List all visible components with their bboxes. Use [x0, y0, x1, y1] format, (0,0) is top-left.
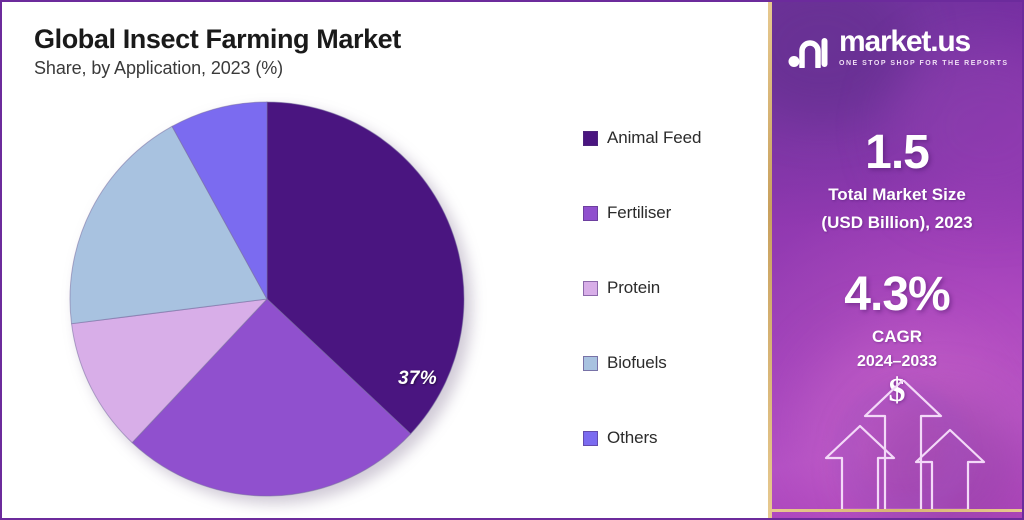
- stat-cagr: 4.3% CAGR 2024–2033: [772, 270, 1022, 372]
- pie-slices: [68, 100, 466, 498]
- legend-item-protein[interactable]: Protein: [583, 277, 763, 299]
- stat-value: 1.5: [772, 128, 1022, 178]
- legend-swatch-icon: [583, 431, 598, 446]
- bar-chart-logo-icon: [788, 26, 830, 68]
- page-subtitle: Share, by Application, 2023 (%): [34, 58, 634, 79]
- brand-text: market.us ONE STOP SHOP FOR THE REPORTS: [839, 27, 1009, 67]
- title-block: Global Insect Farming Market Share, by A…: [34, 24, 634, 79]
- stat-label-line1: CAGR: [772, 326, 1022, 347]
- stat-label-line1: Total Market Size: [772, 184, 1022, 205]
- stat-label-line2: 2024–2033: [772, 352, 1022, 373]
- brand-logo[interactable]: market.us ONE STOP SHOP FOR THE REPORTS: [788, 26, 1010, 68]
- legend-label: Fertiliser: [607, 203, 671, 223]
- legend-swatch-icon: [583, 356, 598, 371]
- legend-item-animal-feed[interactable]: Animal Feed: [583, 127, 763, 149]
- legend-swatch-icon: [583, 131, 598, 146]
- legend-label: Biofuels: [607, 353, 667, 373]
- legend-item-biofuels[interactable]: Biofuels: [583, 352, 763, 374]
- bottom-accent-line: [772, 509, 1022, 512]
- pie-svg: [68, 100, 466, 498]
- brand-name: market.us: [839, 27, 1009, 57]
- chart-panel: Global Insect Farming Market Share, by A…: [2, 2, 768, 518]
- legend-item-fertiliser[interactable]: Fertiliser: [583, 202, 763, 224]
- pie-chart: 37%: [68, 100, 474, 498]
- legend-item-others[interactable]: Others: [583, 427, 763, 449]
- growth-arrows-icon: [772, 380, 1022, 510]
- page-title: Global Insect Farming Market: [34, 24, 634, 55]
- pie-slice-label-animal-feed: 37%: [398, 368, 437, 390]
- brand-stats-panel: market.us ONE STOP SHOP FOR THE REPORTS …: [772, 2, 1022, 518]
- legend-label: Animal Feed: [607, 128, 701, 148]
- stat-value: 4.3%: [772, 270, 1022, 320]
- legend-swatch-icon: [583, 281, 598, 296]
- legend: Animal Feed Fertiliser Protein Biofuels …: [583, 127, 763, 502]
- stat-label-line2: (USD Billion), 2023: [772, 212, 1022, 233]
- brand-tagline: ONE STOP SHOP FOR THE REPORTS: [839, 60, 1009, 67]
- legend-label: Protein: [607, 278, 660, 298]
- stat-total-market-size: 1.5 Total Market Size (USD Billion), 202…: [772, 128, 1022, 233]
- legend-swatch-icon: [583, 206, 598, 221]
- infographic-page: Global Insect Farming Market Share, by A…: [0, 0, 1024, 520]
- legend-label: Others: [607, 428, 657, 448]
